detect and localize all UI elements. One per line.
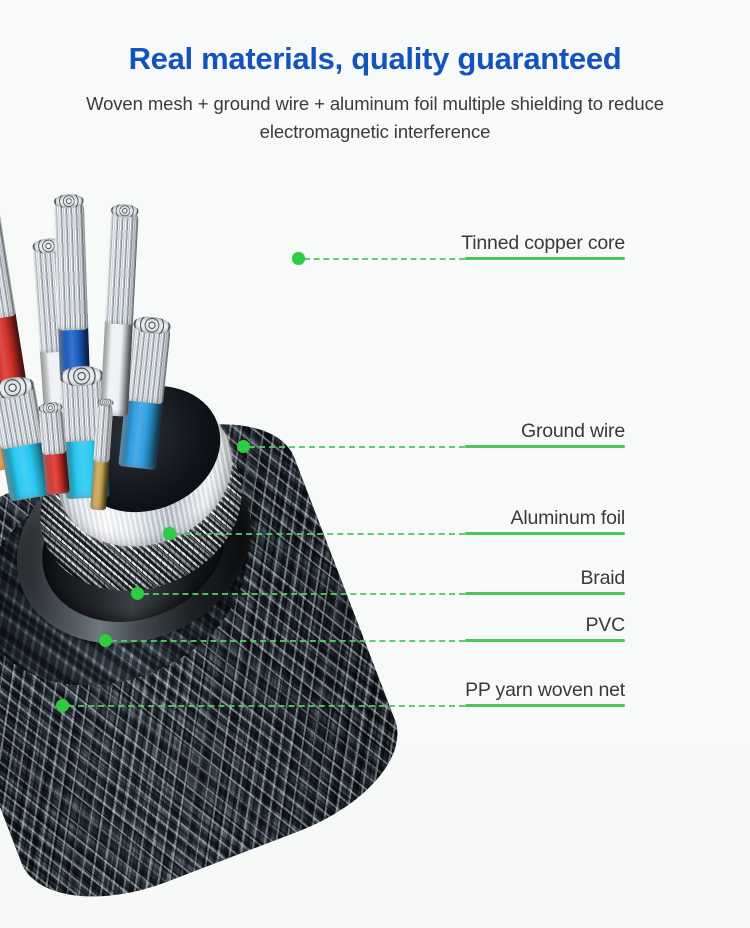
callout-underline [465, 639, 625, 642]
callout-label: PP yarn woven net [465, 679, 625, 702]
callout-marker-dot [131, 587, 144, 600]
cable-cross-section-illustration [0, 150, 420, 750]
leader-line-dashed [175, 533, 465, 535]
callout-3: Aluminum foil [465, 499, 625, 535]
callout-4: Braid [465, 559, 625, 595]
callout-1: Tinned copper core [465, 224, 625, 260]
callout-marker-dot [163, 527, 176, 540]
callout-underline [465, 592, 625, 595]
tinned-copper-conductor [0, 188, 16, 321]
callout-underline [465, 445, 625, 448]
leader-line-dashed [304, 258, 465, 260]
leader-line-dashed [249, 446, 465, 448]
callout-underline [465, 704, 625, 707]
callout-underline [465, 532, 625, 535]
conductor-bundle [0, 150, 420, 750]
tinned-copper-conductor [54, 196, 89, 331]
leader-line-dashed [111, 640, 465, 642]
callout-label: PVC [586, 614, 626, 637]
callout-label: Ground wire [521, 420, 625, 443]
leader-line-dashed [68, 705, 465, 707]
callout-marker-dot [56, 699, 69, 712]
header-block: Real materials, quality guaranteed Woven… [0, 0, 750, 146]
callout-label: Braid [580, 567, 625, 590]
callout-6: PP yarn woven net [465, 671, 625, 707]
page-title: Real materials, quality guaranteed [0, 0, 750, 76]
callout-underline [465, 257, 625, 260]
tinned-copper-conductor [105, 206, 139, 325]
infographic-canvas: Real materials, quality guaranteed Woven… [0, 0, 750, 750]
leader-line-dashed [143, 593, 465, 595]
callout-marker-dot [237, 440, 250, 453]
tinned-copper-conductor [93, 400, 113, 463]
callout-marker-dot [99, 634, 112, 647]
callout-label: Tinned copper core [461, 232, 625, 255]
callout-2: Ground wire [465, 412, 625, 448]
callout-5: PVC [465, 606, 625, 642]
callout-label: Aluminum foil [511, 507, 625, 530]
page-subtitle: Woven mesh + ground wire + aluminum foil… [0, 76, 750, 146]
callout-marker-dot [292, 252, 305, 265]
